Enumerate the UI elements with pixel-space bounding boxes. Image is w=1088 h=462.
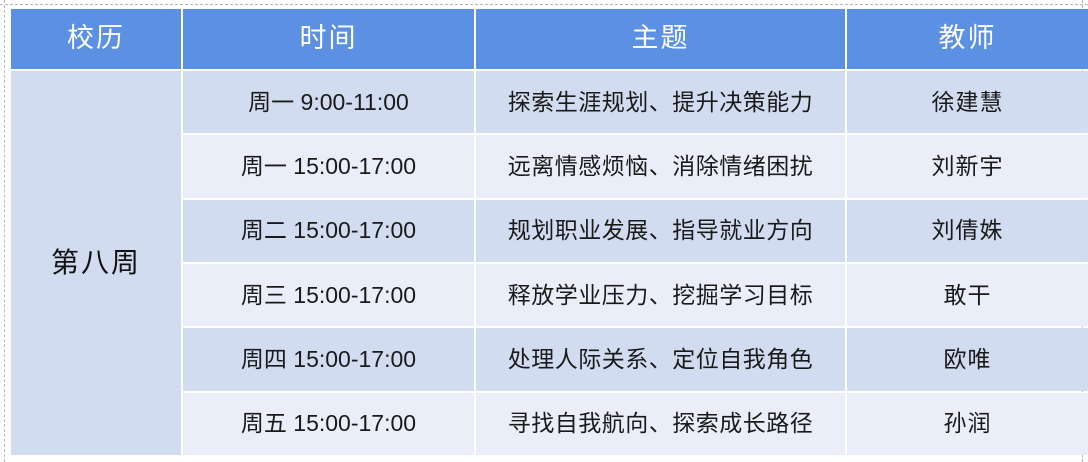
teacher-cell: 孙润 xyxy=(847,393,1088,455)
column-header-teacher: 教师 xyxy=(847,9,1088,69)
table-row: 第八周 周一 9:00-11:00 探索生涯规划、提升决策能力 徐建慧 xyxy=(11,71,1088,133)
topic-cell: 释放学业压力、挖掘学习目标 xyxy=(476,264,845,326)
table-header: 校历 时间 主题 教师 xyxy=(11,9,1088,69)
teacher-cell: 欧唯 xyxy=(847,328,1088,390)
teacher-cell: 刘新宇 xyxy=(847,135,1088,197)
topic-cell: 处理人际关系、定位自我角色 xyxy=(476,328,845,390)
time-cell: 周五 15:00-17:00 xyxy=(183,393,474,455)
teacher-cell: 徐建慧 xyxy=(847,71,1088,133)
time-cell: 周一 9:00-11:00 xyxy=(183,71,474,133)
week-cell: 第八周 xyxy=(11,71,181,455)
header-row: 校历 时间 主题 教师 xyxy=(11,9,1088,69)
topic-cell: 寻找自我航向、探索成长路径 xyxy=(476,393,845,455)
page-guide-left xyxy=(4,0,5,462)
column-header-topic: 主题 xyxy=(476,9,845,69)
page-guide-top xyxy=(0,4,1088,5)
time-cell: 周一 15:00-17:00 xyxy=(183,135,474,197)
schedule-table-container: 校历 时间 主题 教师 第八周 周一 9:00-11:00 探索生涯规划、提升决… xyxy=(9,7,1080,457)
time-cell: 周四 15:00-17:00 xyxy=(183,328,474,390)
topic-cell: 规划职业发展、指导就业方向 xyxy=(476,200,845,262)
schedule-sheet: 校历 时间 主题 教师 第八周 周一 9:00-11:00 探索生涯规划、提升决… xyxy=(0,0,1088,462)
table-body: 第八周 周一 9:00-11:00 探索生涯规划、提升决策能力 徐建慧 周一 1… xyxy=(11,71,1088,455)
topic-cell: 探索生涯规划、提升决策能力 xyxy=(476,71,845,133)
column-header-time: 时间 xyxy=(183,9,474,69)
teacher-cell: 敢干 xyxy=(847,264,1088,326)
topic-cell: 远离情感烦恼、消除情绪困扰 xyxy=(476,135,845,197)
time-cell: 周二 15:00-17:00 xyxy=(183,200,474,262)
column-header-week: 校历 xyxy=(11,9,181,69)
teacher-cell: 刘倩姝 xyxy=(847,200,1088,262)
time-cell: 周三 15:00-17:00 xyxy=(183,264,474,326)
schedule-table: 校历 时间 主题 教师 第八周 周一 9:00-11:00 探索生涯规划、提升决… xyxy=(9,7,1088,457)
